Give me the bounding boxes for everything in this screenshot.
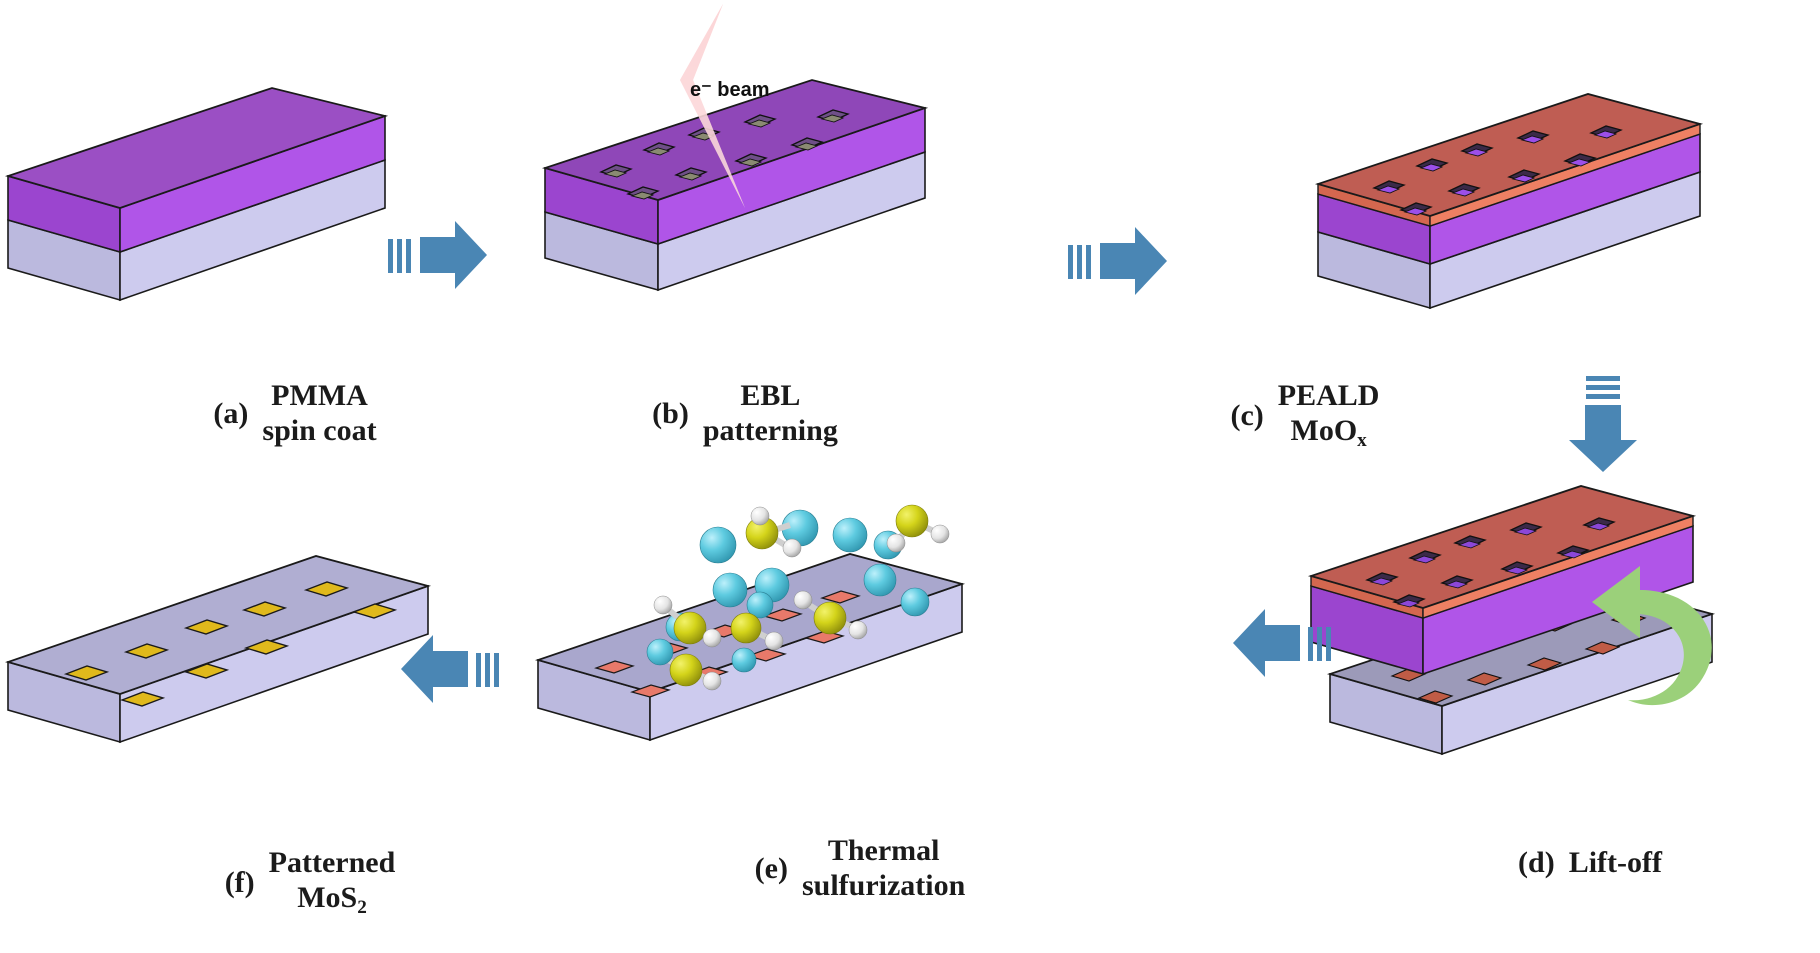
moox-subscript: x [1357,430,1367,451]
e-beam-label: e⁻ beam [690,77,769,102]
h2s-molecule [887,505,949,552]
panel-d-letter: (d) [1518,845,1555,880]
panel-c-title-line2: MoOx [1278,413,1380,452]
panel-f-caption: (f) Patterned MoS2 [160,845,460,920]
panel-f-slab [8,556,428,742]
panel-b-title-line1: EBL [703,378,838,413]
panel-d-title-line1: Lift-off [1569,845,1662,880]
panel-d-slab [1311,486,1712,754]
e-beam-text: e⁻ beam [690,79,769,101]
figure-canvas: e⁻ beam (a) PMMA spin coat (b) EBL patte… [0,0,1820,953]
panel-c-letter: (c) [1231,398,1264,433]
panel-a-slab [8,88,385,300]
panel-e-title-line1: Thermal [802,833,965,868]
process-flow-illustration [0,0,1820,953]
panel-b-letter: (b) [652,396,689,431]
panel-a-title-line2: spin coat [262,413,376,448]
panel-f-title-line2: MoS2 [269,880,396,919]
panel-d-caption: (d) Lift-off [1440,845,1740,880]
arrow-e-to-f [401,635,499,703]
panel-f-title-line1: Patterned [269,845,396,880]
panel-f-letter: (f) [225,865,255,900]
arrow-c-to-d [1569,376,1637,472]
arrow-a-to-b [388,221,487,289]
mos2-subscript: 2 [357,897,367,918]
panel-c-caption: (c) PEALD MoOx [1160,378,1450,453]
panel-e-title-line2: sulfurization [802,868,965,903]
panel-b-title-line2: patterning [703,413,838,448]
panel-e-slab [538,554,962,740]
panel-e-letter: (e) [755,851,788,886]
panel-a-title-line1: PMMA [262,378,376,413]
arrow-b-to-c [1068,227,1167,295]
panel-e-caption: (e) Thermal sulfurization [700,833,1020,904]
panel-b-caption: (b) EBL patterning [600,378,890,449]
panel-a-caption: (a) PMMA spin coat [150,378,440,449]
panel-c-slab [1318,94,1700,308]
panel-c-title-line1: PEALD [1278,378,1380,413]
panel-a-letter: (a) [213,396,248,431]
